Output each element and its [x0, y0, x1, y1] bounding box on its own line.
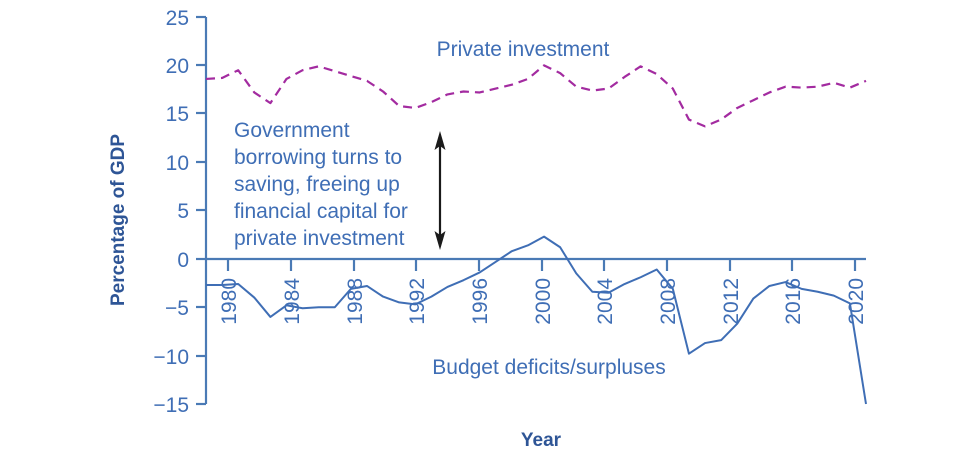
double-arrow-annotation: [435, 131, 446, 250]
series-label-private-investment: Private investment: [437, 38, 610, 61]
annotation-line-3: saving, freeing up: [234, 173, 400, 196]
x-tick-label-2000: 2000: [532, 278, 555, 325]
chart-svg: 25 20 15 10 5 0 −5 −10 −15 1980: [0, 0, 976, 465]
x-tick-label-1984: 1984: [281, 278, 304, 325]
x-tick-label-2020: 2020: [845, 278, 868, 325]
x-tick-label-1988: 1988: [344, 278, 367, 325]
x-tick-label-2004: 2004: [594, 278, 617, 325]
y-tick-label-neg10: −10: [153, 346, 189, 369]
series-line-private-investment: [206, 65, 866, 126]
y-tick-label-10: 10: [166, 152, 189, 175]
x-tick-label-2012: 2012: [720, 278, 743, 325]
x-tick-label-1996: 1996: [469, 278, 492, 325]
chart-figure: 25 20 15 10 5 0 −5 −10 −15 1980: [0, 0, 976, 465]
y-tick-label-15: 15: [166, 103, 189, 126]
y-tick-label-25: 25: [166, 7, 189, 30]
y-tick-label-neg15: −15: [153, 394, 189, 417]
annotation-line-1: Government: [234, 119, 350, 142]
x-axis-ticks: [228, 259, 855, 271]
x-tick-label-1992: 1992: [406, 278, 429, 325]
y-axis-ticks: [196, 17, 206, 404]
annotation-line-5: private investment: [234, 227, 405, 250]
annotation-line-4: financial capital for: [234, 200, 408, 223]
series-label-budget-deficits: Budget deficits/surpluses: [432, 356, 665, 379]
government-borrowing-annotation: Government borrowing turns to saving, fr…: [234, 119, 408, 250]
y-tick-label-0: 0: [177, 249, 189, 272]
y-axis-title: Percentage of GDP: [108, 134, 129, 306]
y-tick-label-5: 5: [177, 200, 189, 223]
y-axis-tick-labels: 25 20 15 10 5 0 −5 −10 −15: [153, 7, 189, 417]
x-axis-title: Year: [521, 430, 562, 451]
y-tick-label-neg5: −5: [165, 297, 189, 320]
y-tick-label-20: 20: [166, 55, 189, 78]
annotation-line-2: borrowing turns to: [234, 146, 402, 169]
